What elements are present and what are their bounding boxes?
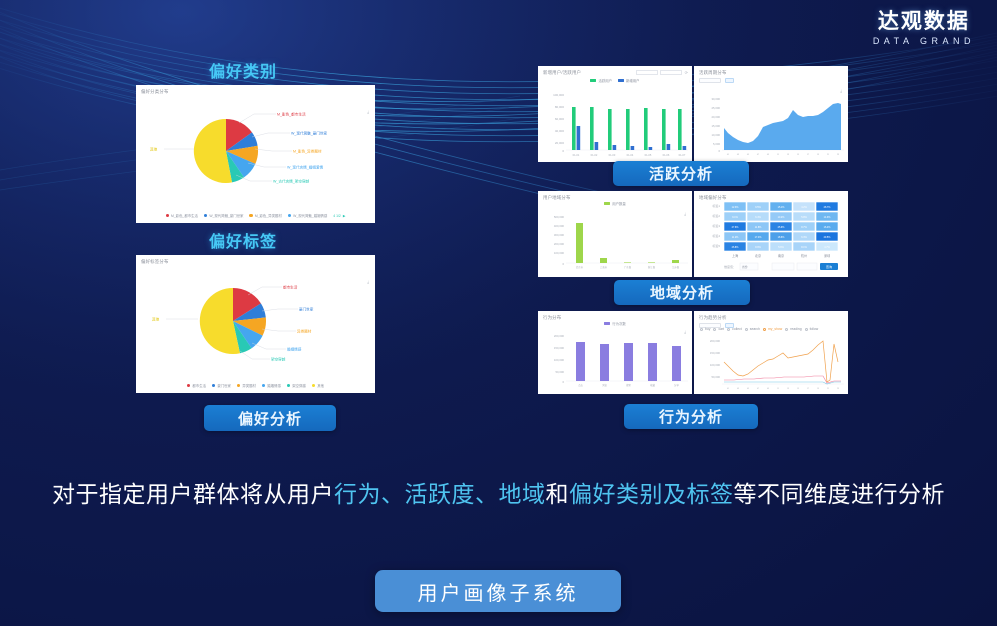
svg-text:50,000: 50,000: [711, 375, 720, 379]
svg-text:200,000: 200,000: [554, 242, 565, 246]
desc-part2: 和: [546, 481, 570, 507]
svg-text:4.2%: 4.2%: [801, 206, 807, 209]
svg-text:15: 15: [797, 154, 800, 156]
desc-hi1: 行为: [334, 481, 381, 507]
description-text: 对于指定用户群体将从用户行为、活跃度、地域和偏好类别及标签等不同维度进行分析: [0, 478, 997, 511]
svg-text:15: 15: [797, 388, 799, 390]
svg-text:10,000: 10,000: [711, 133, 720, 137]
brand-logo-en: DATA GRAND: [873, 36, 975, 46]
svg-text:17: 17: [807, 154, 810, 156]
card-title-activity-area: 活跃周期分布: [694, 66, 848, 76]
svg-text:8.1%: 8.1%: [801, 246, 807, 249]
svg-text:南京: 南京: [778, 253, 784, 258]
activity-area-toolbar[interactable]: [694, 76, 848, 83]
svg-text:03: 03: [737, 388, 739, 390]
svg-text:18.6%: 18.6%: [778, 236, 786, 239]
svg-text:13: 13: [787, 388, 789, 390]
brand-logo-cn: 达观数据: [873, 10, 975, 34]
svg-text:300,000: 300,000: [554, 233, 565, 237]
svg-text:收藏: 收藏: [650, 383, 655, 387]
svg-text:07: 07: [757, 388, 759, 390]
svg-text:5.6%: 5.6%: [778, 246, 784, 249]
legend-behavior-bar[interactable]: 行为次数: [538, 321, 692, 326]
svg-text:26.8%: 26.8%: [732, 246, 740, 249]
card-activity-area[interactable]: 活跃周期分布 ⤓ 30,00025,00020,000 15,00010,000…: [694, 66, 848, 162]
desc-hi3: 地域: [499, 481, 546, 507]
svg-text:16.4%: 16.4%: [824, 226, 832, 229]
svg-text:20,000: 20,000: [711, 115, 720, 119]
svg-text:01: 01: [727, 388, 729, 390]
svg-text:17: 17: [807, 388, 809, 390]
desc-hi2: 活跃度: [405, 481, 476, 507]
card-activity-bar[interactable]: 新增用户/活跃用户 ⟳ 活跃用户 新增用户 100,00080,000 60,0…: [538, 66, 692, 162]
svg-text:架空穿越: 架空穿越: [271, 357, 286, 362]
card-preference-tag-pie[interactable]: 偏好标签分布 ⤓ 都市生活 豪门世家 异类题材 婚姻情感 架空穿越 其他: [136, 255, 375, 393]
svg-text:15.1%: 15.1%: [778, 206, 786, 209]
svg-text:15,000: 15,000: [711, 124, 720, 128]
svg-text:标签3: 标签3: [712, 223, 720, 228]
card-region-bar[interactable]: 用户地域分布 用户数量 ⤓ 500,000400,000300,000 200,…: [538, 191, 692, 277]
legend-pager[interactable]: 4 1/2 ▶: [333, 213, 345, 218]
svg-text:28.7%: 28.7%: [824, 206, 832, 209]
svg-text:杭州: 杭州: [801, 253, 807, 258]
pie-chart-preference-tag: 都市生活 豪门世家 异类题材 婚姻情感 架空穿越 其他: [136, 269, 375, 381]
svg-text:400,000: 400,000: [554, 224, 565, 228]
svg-text:6.3%: 6.3%: [801, 236, 807, 239]
desc-part3: 等不同维度进行分析: [734, 481, 946, 507]
svg-text:01: 01: [727, 154, 730, 156]
svg-text:14.3%: 14.3%: [824, 216, 832, 219]
pie-label-2: M_影色_异类题材: [293, 149, 322, 154]
svg-text:19: 19: [817, 388, 819, 390]
svg-text:21: 21: [827, 154, 830, 156]
svg-text:11: 11: [777, 154, 780, 156]
svg-text:上海市: 上海市: [600, 265, 608, 269]
svg-text:100,000: 100,000: [710, 363, 721, 367]
svg-text:11.2%: 11.2%: [732, 236, 739, 239]
svg-text:05: 05: [747, 388, 749, 390]
legend-preference-tag[interactable]: 都市生活 豪门世家 异类题材 婚姻情感 架空穿越 其他: [136, 383, 375, 388]
svg-text:07: 07: [757, 154, 760, 156]
svg-text:8.7%: 8.7%: [801, 226, 807, 229]
svg-text:23: 23: [837, 388, 839, 390]
legend-activity-bar[interactable]: 活跃用户 新增用户: [538, 78, 692, 83]
svg-text:200,000: 200,000: [554, 334, 565, 338]
svg-text:北京: 北京: [755, 253, 761, 258]
svg-text:豪门世家: 豪门世家: [299, 307, 314, 312]
region-bar-chart: 500,000400,000300,000 200,000100,0000 北京…: [538, 209, 692, 277]
svg-text:5,000: 5,000: [713, 142, 720, 146]
svg-text:标签1: 标签1: [712, 203, 720, 208]
card-behavior-bar[interactable]: 行为分布 行为次数 ⤓ 200,000150,000100,000 50,000…: [538, 311, 692, 394]
svg-text:0: 0: [562, 380, 564, 384]
svg-text:200,000: 200,000: [710, 339, 721, 343]
svg-text:标签2: 标签2: [712, 213, 720, 218]
date-range-end[interactable]: [660, 70, 682, 75]
activity-area-chart: 30,00025,00020,000 15,00010,0005,0000 01…: [694, 92, 848, 160]
pie-label-0: M_影色_都市生活: [277, 112, 306, 117]
svg-text:都市生活: 都市生活: [283, 285, 298, 290]
card-region-heatmap[interactable]: 地域偏好分布 标签1标签2标签3 标签4标签5 12.3%9.5%15.1%4.…: [694, 191, 848, 277]
svg-text:分享: 分享: [674, 383, 679, 387]
card-title-preference-tag: 偏好标签分布: [136, 255, 375, 265]
legend-region-bar[interactable]: 用户数量: [538, 201, 692, 206]
svg-text:100,000: 100,000: [553, 93, 564, 97]
svg-text:11.8%: 11.8%: [755, 226, 762, 229]
svg-text:0: 0: [562, 149, 564, 153]
svg-text:01-01: 01-01: [573, 153, 580, 157]
svg-text:25,000: 25,000: [711, 106, 720, 110]
svg-text:浏览: 浏览: [602, 383, 607, 387]
button-behavior-analysis[interactable]: 行为分析: [624, 404, 758, 429]
svg-text:12.3%: 12.3%: [732, 206, 740, 209]
svg-text:5.8%: 5.8%: [801, 216, 807, 219]
svg-text:0: 0: [718, 149, 720, 153]
query-button[interactable]: [725, 78, 734, 83]
svg-text:01-04: 01-04: [627, 153, 634, 157]
svg-text:9.1%: 9.1%: [732, 216, 738, 219]
svg-text:80,000: 80,000: [555, 105, 565, 109]
svg-text:09: 09: [767, 154, 770, 156]
svg-text:21: 21: [827, 388, 829, 390]
date-range-start[interactable]: [636, 70, 658, 75]
svg-text:01-06: 01-06: [663, 153, 670, 157]
svg-text:4.7%: 4.7%: [824, 246, 830, 249]
button-activity-analysis[interactable]: 活跃分析: [613, 161, 749, 186]
card-title-preference-category: 偏好分类分布: [136, 85, 375, 95]
svg-text:150,000: 150,000: [554, 346, 565, 350]
caption-preference-tag: 偏好标签: [209, 228, 277, 252]
svg-text:婚姻情感: 婚姻情感: [287, 347, 302, 352]
brand-logo: 达观数据 DATA GRAND: [873, 10, 975, 46]
svg-text:搜索: 搜索: [626, 383, 631, 387]
svg-text:查询: 查询: [826, 264, 832, 269]
pie-label-5: 其他: [150, 147, 158, 152]
period-select[interactable]: [699, 78, 721, 83]
svg-text:省份: 省份: [742, 265, 748, 269]
svg-text:60,000: 60,000: [555, 117, 565, 121]
svg-text:100,000: 100,000: [554, 251, 565, 255]
svg-text:广东省: 广东省: [624, 265, 632, 269]
region-heatmap-chart: 标签1标签2标签3 标签4标签5 12.3%9.5%15.1%4.2%28.7%…: [694, 197, 848, 277]
svg-text:27.6%: 27.6%: [732, 226, 740, 229]
activity-bar-chart: 100,00080,000 60,00040,000 20,0000 01-01…: [538, 86, 692, 160]
pie-label-4: W_古代言情_架空穿越: [273, 179, 310, 184]
svg-text:上海: 上海: [732, 253, 739, 258]
card-title-behavior-bar: 行为分布: [538, 311, 692, 321]
svg-text:17.4%: 17.4%: [755, 236, 763, 239]
svg-text:01-05: 01-05: [645, 153, 652, 157]
svg-text:其他: 其他: [152, 317, 160, 322]
svg-text:9.5%: 9.5%: [755, 206, 761, 209]
svg-text:20,000: 20,000: [555, 141, 565, 145]
card-title-behavior-line: 行为趋势分析: [694, 311, 848, 321]
refresh-icon[interactable]: ⟳: [685, 70, 688, 75]
svg-text:100,000: 100,000: [554, 358, 565, 362]
card-preference-category-pie[interactable]: 偏好分类分布 ⤓ M_影色_都市生活 W_现代简魅_豪门世家 M_影色_异类题材…: [136, 85, 375, 223]
svg-text:浙江省: 浙江省: [648, 265, 656, 269]
svg-text:0: 0: [562, 262, 564, 266]
svg-text:江苏省: 江苏省: [672, 265, 680, 269]
svg-text:500,000: 500,000: [554, 215, 565, 219]
desc-sep1: 、: [381, 481, 405, 507]
svg-text:标签4: 标签4: [712, 233, 720, 238]
legend-preference-category[interactable]: M_影色_都市生活 W_现代简魅_豪门世家 M_影色_异类题材 W_现代简魅_婚…: [136, 213, 375, 218]
svg-text:09: 09: [767, 388, 769, 390]
svg-text:150,000: 150,000: [710, 351, 721, 355]
pie-label-3: W_现代言情_婚姻爱情: [287, 165, 324, 170]
svg-text:点击: 点击: [578, 383, 583, 387]
behavior-line-chart: 200,000150,000100,00050,000 01030507 091…: [694, 332, 848, 394]
svg-text:8.9%: 8.9%: [755, 246, 761, 249]
caption-preference-category: 偏好类别: [209, 58, 277, 82]
desc-part1: 对于指定用户群体将从用户: [52, 481, 334, 507]
svg-text:03: 03: [737, 154, 740, 156]
svg-text:深圳: 深圳: [824, 253, 830, 258]
behavior-bar-chart: 200,000150,000100,000 50,0000 点击浏览搜索 收藏分…: [538, 328, 692, 394]
svg-text:标签5: 标签5: [712, 243, 720, 248]
svg-text:25.9%: 25.9%: [778, 226, 786, 229]
svg-text:01-02: 01-02: [591, 153, 598, 157]
svg-text:10.2%: 10.2%: [778, 216, 786, 219]
card-title-region-bar: 用户地域分布: [538, 191, 692, 201]
legend-behavior-line[interactable]: buy cart collect search my_show reading …: [700, 327, 844, 331]
svg-text:异类题材: 异类题材: [297, 329, 312, 334]
pie-chart-preference-category: M_影色_都市生活 W_现代简魅_豪门世家 M_影色_异类题材 W_现代言情_婚…: [136, 99, 375, 211]
svg-text:40,000: 40,000: [555, 129, 565, 133]
button-preference-analysis[interactable]: 偏好分析: [204, 405, 336, 431]
svg-text:13: 13: [787, 154, 790, 156]
desc-sep2: 、: [475, 481, 499, 507]
svg-text:19: 19: [817, 154, 820, 156]
card-behavior-line[interactable]: 行为趋势分析 buy cart collect search my_show r…: [694, 311, 848, 394]
svg-text:23: 23: [837, 154, 840, 156]
svg-text:01-03: 01-03: [609, 153, 616, 157]
svg-text:11: 11: [777, 388, 779, 390]
svg-text:30,000: 30,000: [711, 97, 720, 101]
button-user-profiling-subsystem[interactable]: 用户画像子系统: [375, 570, 621, 612]
svg-text:01-07: 01-07: [679, 153, 686, 157]
button-region-analysis[interactable]: 地域分析: [614, 280, 750, 305]
svg-text:29.5%: 29.5%: [824, 236, 832, 239]
svg-text:北京市: 北京市: [576, 265, 584, 269]
desc-hi4: 偏好类别及标签: [569, 481, 734, 507]
svg-text:50,000: 50,000: [555, 370, 564, 374]
svg-text:维度值：: 维度值：: [724, 264, 736, 269]
svg-text:6.4%: 6.4%: [755, 216, 761, 219]
svg-text:05: 05: [747, 154, 750, 156]
pie-label-1: W_现代简魅_豪门世家: [291, 131, 328, 136]
